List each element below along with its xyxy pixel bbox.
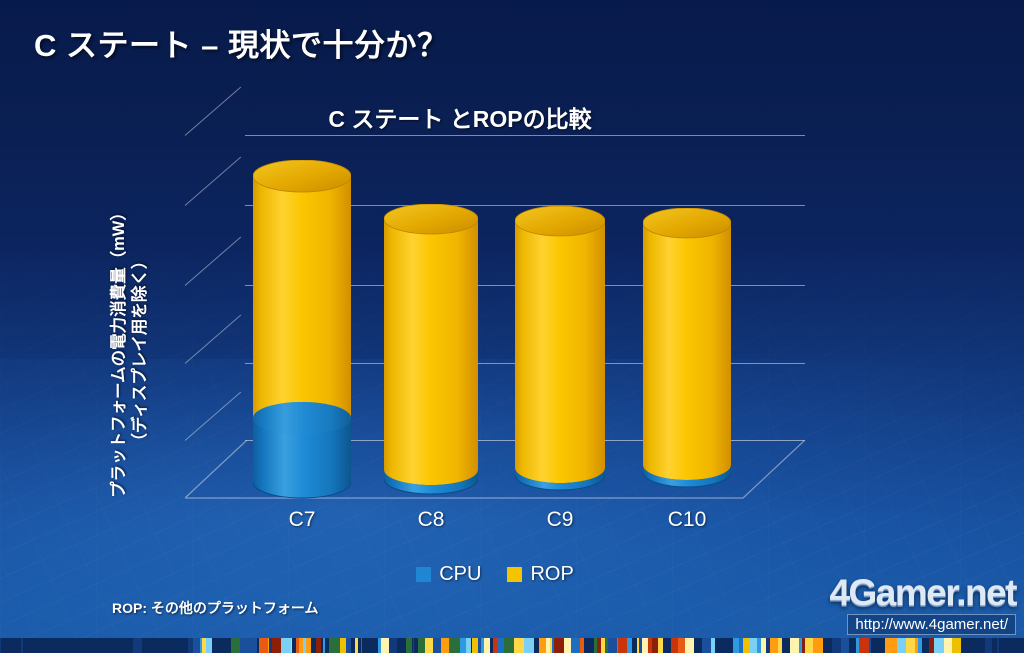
bar-c7[interactable] xyxy=(253,160,351,500)
x-axis-labels: C7 C8 C9 C10 xyxy=(185,508,805,540)
y-axis-label: プラットフォームの電力消費量（mW） （ディスプレイ用を除く） xyxy=(109,141,151,561)
y-axis-label-line-2: （ディスプレイ用を除く） xyxy=(130,141,151,561)
y-axis-label-line-1: プラットフォームの電力消費量（mW） xyxy=(109,141,130,561)
legend-label-cpu: CPU xyxy=(439,563,481,586)
legend-label-rop: ROP xyxy=(530,563,573,586)
decorative-stripe-band xyxy=(0,638,1024,653)
bar-c9[interactable] xyxy=(515,206,605,492)
x-label-c9: C9 xyxy=(515,508,605,532)
bar-series-group xyxy=(185,118,805,502)
bar-c10[interactable] xyxy=(643,208,731,488)
legend-swatch-rop-icon xyxy=(507,567,522,582)
watermark: 4Gamer.net http://www.4gamer.net/ xyxy=(790,574,1016,635)
x-label-c8: C8 xyxy=(386,508,476,532)
x-label-c7: C7 xyxy=(257,508,347,532)
legend-swatch-cpu-icon xyxy=(416,567,431,582)
bar-chart: C ステート とROPの比較 プラットフォームの電力消費量（mW） （ディスプレ… xyxy=(0,0,1024,653)
chart-legend: CPU ROP xyxy=(185,563,805,586)
chart-footnote: ROP: その他のプラットフォーム xyxy=(112,598,318,618)
watermark-url: http://www.4gamer.net/ xyxy=(847,614,1016,635)
legend-item-cpu[interactable]: CPU xyxy=(416,563,481,586)
bar-c8[interactable] xyxy=(384,204,478,496)
watermark-logo: 4Gamer.net xyxy=(790,574,1016,612)
x-label-c10: C10 xyxy=(642,508,732,532)
legend-item-rop[interactable]: ROP xyxy=(507,563,573,586)
slide-canvas: C ステート – 現状で十分か？ C ステート とROPの比較 プラットフォーム… xyxy=(0,0,1024,653)
